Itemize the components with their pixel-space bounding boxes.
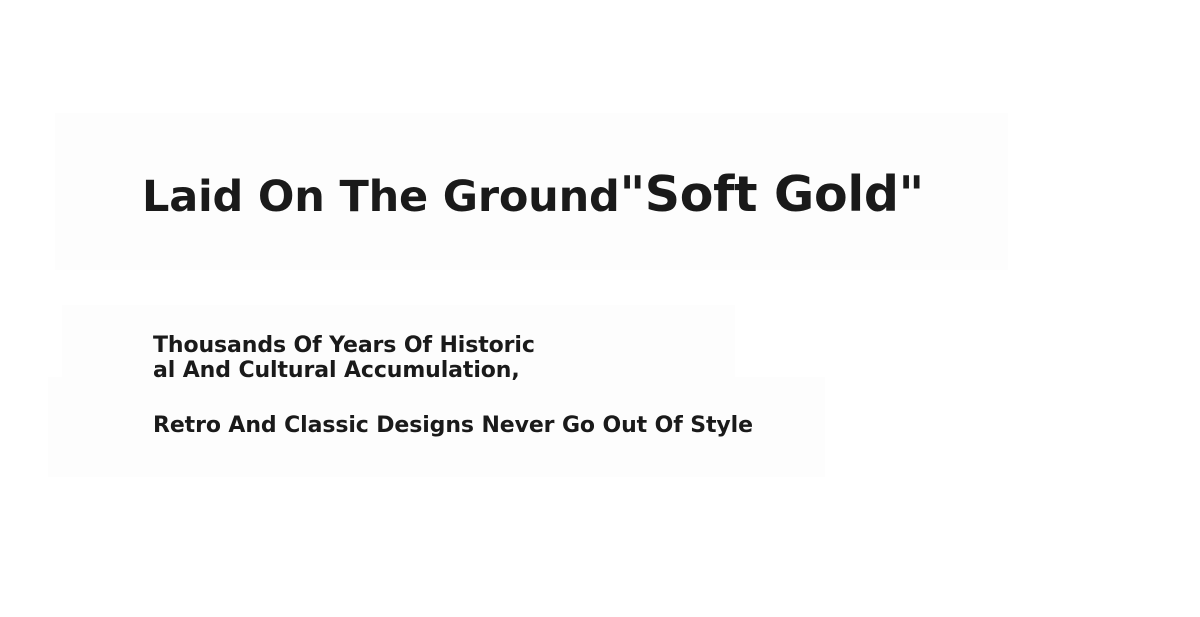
page-canvas: Laid On The Ground"Soft Gold" Thousands … <box>0 0 1200 617</box>
body-paragraph-1: Thousands Of Years Of Historic al And Cu… <box>153 333 913 383</box>
page-title: Laid On The Ground"Soft Gold" <box>142 170 1042 219</box>
body-copy: Thousands Of Years Of Historic al And Cu… <box>153 333 913 438</box>
title-main-text: Laid On The Ground <box>142 172 620 222</box>
body-paragraph-2: Retro And Classic Designs Never Go Out O… <box>153 413 913 438</box>
title-quoted-text: "Soft Gold" <box>620 166 924 223</box>
